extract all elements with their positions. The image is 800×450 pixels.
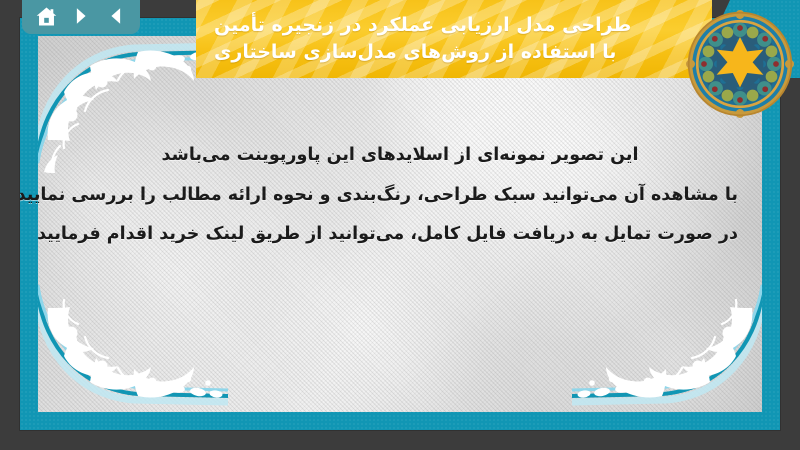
slide-body-text: این تصویر نمونه‌ای از اسلایدهای این پاور… xyxy=(62,142,738,248)
title-banner-tab xyxy=(712,0,800,78)
title-banner-band: طراحی مدل ارزیابی عملکرد در زنجیره تأمین… xyxy=(196,0,712,78)
slide-frame: این تصویر نمونه‌ای از اسلایدهای این پاور… xyxy=(20,18,780,430)
back-arrow-icon[interactable] xyxy=(103,3,129,29)
navigation-bar xyxy=(22,0,140,34)
forward-arrow-icon[interactable] xyxy=(68,3,94,29)
page-title-line-1: طراحی مدل ارزیابی عملکرد در زنجیره تأمین xyxy=(214,12,631,39)
slide-title-banner: طراحی مدل ارزیابی عملکرد در زنجیره تأمین… xyxy=(196,0,800,78)
home-icon[interactable] xyxy=(33,3,59,29)
body-line-3: در صورت تمایل به دریافت فایل کامل، می‌تو… xyxy=(62,221,738,248)
page-title-line-2: با استفاده از روش‌های مدل‌سازی ساختاری xyxy=(214,39,616,66)
slide-viewer-root: این تصویر نمونه‌ای از اسلایدهای این پاور… xyxy=(0,0,800,450)
body-line-1: این تصویر نمونه‌ای از اسلایدهای این پاور… xyxy=(62,142,738,169)
body-line-2: با مشاهده آن می‌توانید سبک طراحی، رنگ‌بن… xyxy=(62,182,738,209)
